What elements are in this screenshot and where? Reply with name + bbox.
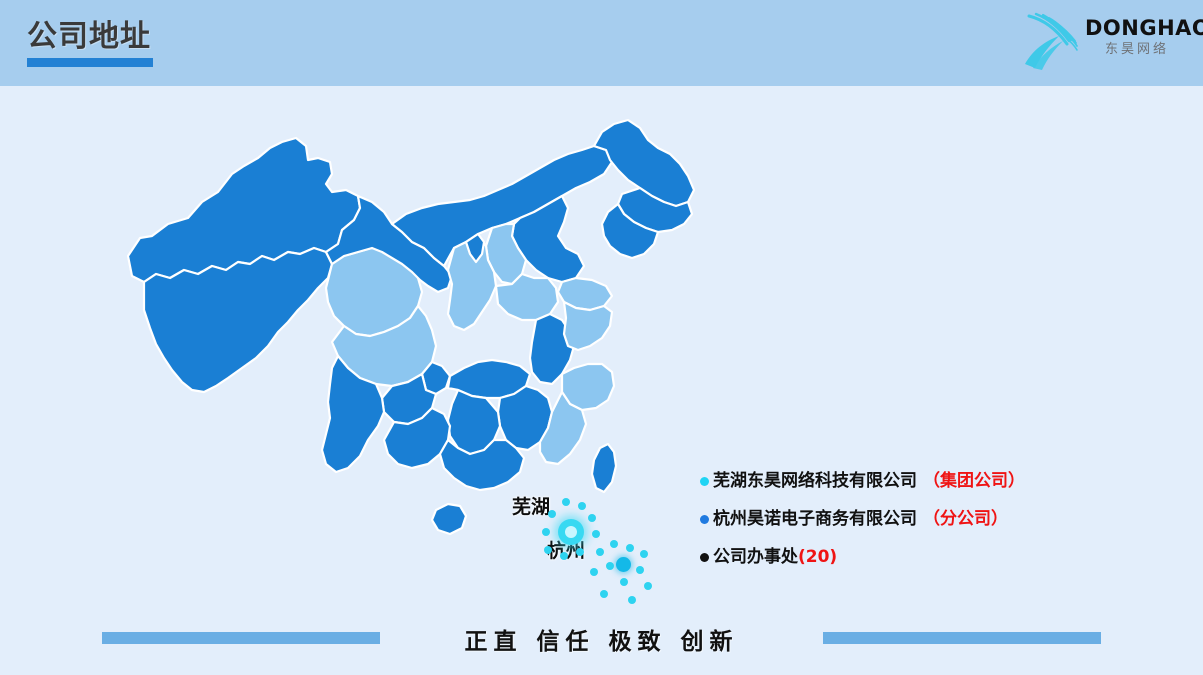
feather-fan-icon — [1019, 10, 1085, 72]
office-dot[interactable] — [620, 578, 628, 586]
office-dot[interactable] — [542, 528, 550, 536]
province-taiwan — [592, 444, 616, 492]
office-dot[interactable] — [606, 562, 614, 570]
office-dot[interactable] — [628, 596, 636, 604]
office-dot[interactable] — [640, 550, 648, 558]
china-map: 芜湖 杭州 — [92, 96, 732, 616]
group-headquarters-marker[interactable] — [558, 519, 584, 545]
logo-text-block: DONGHAO 东昊网络 — [1085, 16, 1189, 59]
office-dot[interactable] — [636, 566, 644, 574]
office-dot[interactable] — [588, 514, 596, 522]
company-logo: DONGHAO 东昊网络 — [1019, 8, 1189, 76]
title-underline — [27, 58, 153, 67]
office-dot[interactable] — [560, 552, 568, 560]
legend-note-branch: （分公司） — [923, 509, 1008, 529]
legend-item-group: 芜湖东昊网络科技有限公司 （集团公司） — [700, 462, 1030, 500]
branch-marker[interactable] — [616, 557, 631, 572]
city-label-wuhu: 芜湖 — [512, 492, 550, 519]
title-block: 公司地址 — [27, 19, 153, 67]
province-jiangsu — [564, 302, 612, 350]
legend-label-office: 公司办事处 — [713, 547, 798, 567]
footer-bar-right — [823, 632, 1101, 644]
china-map-svg — [92, 96, 732, 616]
office-dot[interactable] — [576, 548, 584, 556]
province-hainan — [432, 504, 466, 534]
office-bullet-icon — [700, 553, 709, 562]
office-dot[interactable] — [592, 530, 600, 538]
office-dot[interactable] — [600, 590, 608, 598]
logo-name: DONGHAO — [1085, 16, 1189, 40]
office-dot[interactable] — [644, 582, 652, 590]
office-dot[interactable] — [596, 548, 604, 556]
office-dot[interactable] — [562, 498, 570, 506]
office-dot[interactable] — [590, 568, 598, 576]
legend-item-office: 公司办事处 (20) — [700, 538, 1030, 576]
legend-note-office: (20) — [798, 547, 837, 567]
slide-canvas: 公司地址 — [0, 0, 1203, 675]
legend: 芜湖东昊网络科技有限公司 （集团公司） 杭州昊诺电子商务有限公司 （分公司） 公… — [700, 462, 1030, 576]
logo-subtitle: 东昊网络 — [1085, 41, 1189, 59]
slide-header: 公司地址 — [0, 0, 1203, 86]
legend-note-group: （集团公司） — [923, 471, 1025, 491]
office-dot[interactable] — [610, 540, 618, 548]
office-dot[interactable] — [548, 510, 556, 518]
office-dot[interactable] — [578, 502, 586, 510]
legend-item-branch: 杭州昊诺电子商务有限公司 （分公司） — [700, 500, 1030, 538]
legend-label-group: 芜湖东昊网络科技有限公司 — [713, 471, 917, 491]
office-dot[interactable] — [544, 546, 552, 554]
page-title: 公司地址 — [27, 19, 153, 55]
office-dot[interactable] — [626, 544, 634, 552]
group-bullet-icon — [700, 477, 709, 486]
legend-label-branch: 杭州昊诺电子商务有限公司 — [713, 509, 917, 529]
branch-bullet-icon — [700, 515, 709, 524]
